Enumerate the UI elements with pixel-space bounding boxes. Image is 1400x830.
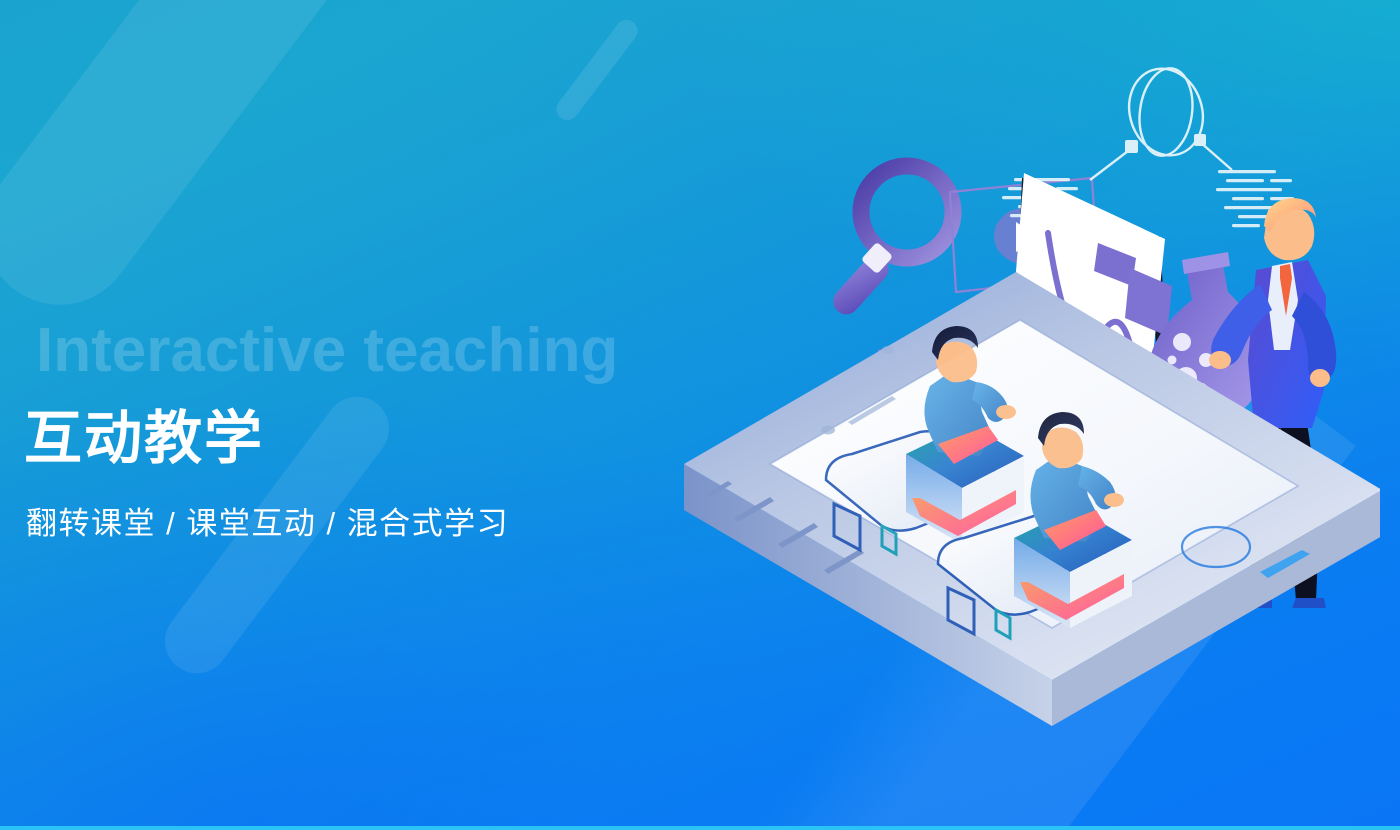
bottom-cyan-strip [0, 826, 1400, 830]
hero-text-block: Interactive teaching 互动教学 翻转课堂 / 课堂互动 / … [24, 320, 618, 543]
page-subtitle: 翻转课堂 / 课堂互动 / 混合式学习 [26, 498, 618, 543]
atom-orbit-icon [1090, 60, 1232, 180]
hero-banner: Interactive teaching 互动教学 翻转课堂 / 课堂互动 / … [0, 0, 1400, 830]
isometric-classroom-illustration [620, 60, 1380, 790]
magnifier-icon [828, 166, 953, 320]
page-title: 互动教学 [24, 410, 618, 468]
capsule-large-top-left [0, 0, 375, 335]
ghost-title: Interactive teaching [36, 320, 618, 382]
